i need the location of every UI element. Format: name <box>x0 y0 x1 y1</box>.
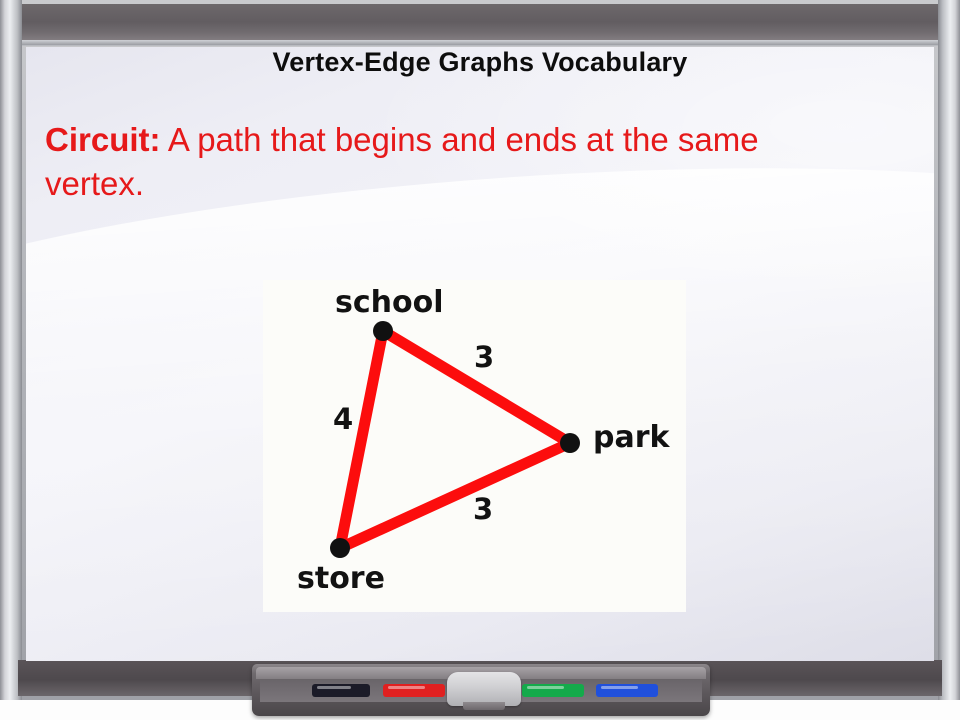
definition-text: Circuit: A path that begins and ends at … <box>45 118 845 205</box>
eraser[interactable] <box>447 672 521 706</box>
green-marker[interactable] <box>522 684 584 697</box>
whiteboard-left-rail <box>0 0 22 700</box>
whiteboard-right-rail <box>938 0 960 700</box>
edge-store-park <box>340 443 570 548</box>
vocabulary-term: Circuit: <box>45 121 161 158</box>
slide-screenshot: Vertex-Edge Graphs Vocabulary Circuit: A… <box>0 0 960 720</box>
red-marker[interactable] <box>383 684 445 697</box>
page-title: Vertex-Edge Graphs Vocabulary <box>26 47 934 78</box>
graph-figure: school park store 3 4 3 <box>263 280 686 612</box>
edge-school-store <box>340 331 383 548</box>
vertex-label-park: park <box>593 420 669 455</box>
edge-weight-store-park: 3 <box>473 492 493 526</box>
whiteboard-top-rail-sheen <box>18 40 942 45</box>
marker-tray <box>252 664 710 716</box>
vertex-label-store: store <box>297 561 385 596</box>
vertex-store <box>330 538 350 558</box>
whiteboard-frame: Vertex-Edge Graphs Vocabulary Circuit: A… <box>0 0 960 700</box>
vertex-school <box>373 321 393 341</box>
edge-weight-school-store: 4 <box>333 402 353 436</box>
edge-weight-school-park: 3 <box>474 340 494 374</box>
eraser-base <box>463 702 505 710</box>
vertex-park <box>560 433 580 453</box>
graph-vertices <box>330 321 580 558</box>
blue-marker[interactable] <box>596 684 658 697</box>
black-marker[interactable] <box>312 684 370 697</box>
graph-edges <box>340 331 570 548</box>
vertex-label-school: school <box>335 285 444 320</box>
whiteboard-surface: Vertex-Edge Graphs Vocabulary Circuit: A… <box>26 47 934 661</box>
